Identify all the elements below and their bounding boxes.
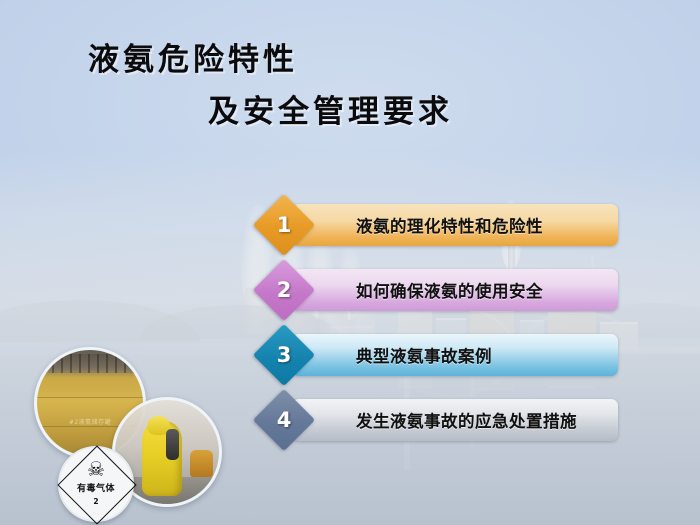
agenda-bar[interactable]: 典型液氨事故案例 [292, 334, 618, 376]
agenda-item-1[interactable]: 液氨的理化特性和危险性 1 [262, 196, 634, 261]
hazard-badge: ☠ 有毒气体 2 [58, 446, 134, 522]
breathing-apparatus [166, 429, 180, 460]
tank-seam [37, 397, 143, 398]
agenda-bar[interactable]: 如何确保液氨的使用安全 [292, 269, 618, 311]
presentation-slide: 液氨危险特性 及安全管理要求 液氨的理化特性和危险性 1 如何确保液氨的使用安全… [0, 0, 700, 525]
agenda-number: 4 [262, 398, 306, 442]
hazard-label: 有毒气体 [77, 481, 115, 494]
agenda-list: 液氨的理化特性和危险性 1 如何确保液氨的使用安全 2 典型液氨事故案例 3 发… [262, 196, 634, 456]
agenda-item-label: 如何确保液氨的使用安全 [356, 278, 543, 302]
agenda-number: 2 [262, 268, 306, 312]
skull-crossbones-icon: ☠ [87, 459, 105, 479]
tank-gantry [43, 354, 136, 373]
title-line-2: 及安全管理要求 [0, 86, 660, 138]
agenda-item-2[interactable]: 如何确保液氨的使用安全 2 [262, 261, 634, 326]
agenda-item-3[interactable]: 典型液氨事故案例 3 [262, 326, 634, 391]
agenda-number: 3 [262, 333, 306, 377]
agenda-item-label: 发生液氨事故的应急处置措施 [356, 408, 577, 432]
drum [190, 450, 213, 477]
agenda-number: 1 [262, 203, 306, 247]
tank-photo-caption: #2液氨储存罐 [69, 417, 111, 426]
page-title: 液氨危险特性 及安全管理要求 [0, 34, 660, 138]
agenda-item-label: 典型液氨事故案例 [356, 343, 492, 367]
title-line-1: 液氨危险特性 [0, 34, 660, 86]
agenda-item-4[interactable]: 发生液氨事故的应急处置措施 4 [262, 391, 634, 456]
agenda-bar[interactable]: 发生液氨事故的应急处置措施 [292, 399, 618, 441]
agenda-item-label: 液氨的理化特性和危险性 [356, 213, 543, 237]
hazard-class-number: 2 [93, 497, 98, 506]
agenda-bar[interactable]: 液氨的理化特性和危险性 [292, 204, 618, 246]
